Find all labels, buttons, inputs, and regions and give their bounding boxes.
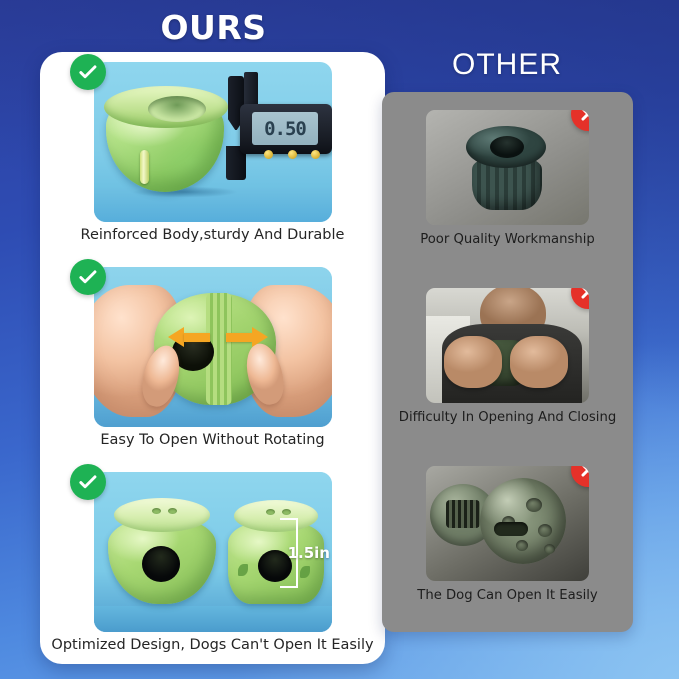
other-panel: Poor Quality Workmanship Difficulty In O… bbox=[382, 92, 633, 632]
photo-two-green-toys-size-comparison: 1.5in bbox=[94, 472, 332, 632]
other-caption-0: Poor Quality Workmanship bbox=[382, 232, 633, 247]
check-circle-icon bbox=[70, 54, 106, 90]
ours-caption-2: Optimized Design, Dogs Can't Open It Eas… bbox=[40, 637, 385, 653]
other-caption-1: Difficulty In Opening And Closing bbox=[382, 410, 633, 425]
caliper-button-1 bbox=[264, 150, 273, 159]
check-circle-icon bbox=[70, 464, 106, 500]
digital-caliper: 0.50 bbox=[212, 72, 332, 192]
toy-opening bbox=[142, 546, 180, 582]
right-hand bbox=[510, 336, 568, 388]
toy-knob bbox=[266, 509, 275, 515]
other-heading: OTHER bbox=[382, 48, 632, 82]
toy-lid bbox=[114, 498, 209, 532]
caliper-button-3 bbox=[311, 150, 320, 159]
table-surface bbox=[94, 606, 332, 632]
caliper-reading-value: 0.50 bbox=[264, 118, 306, 140]
photo-sage-green-ball-opened-apart bbox=[426, 466, 589, 581]
toy-knob bbox=[282, 509, 291, 515]
left-hand bbox=[444, 336, 502, 388]
photo-hands-pulling-toy-apart bbox=[94, 267, 332, 427]
toy-pin bbox=[140, 150, 149, 184]
bracket-bottom bbox=[280, 586, 298, 588]
toy-ball bbox=[480, 478, 566, 564]
dimension-value: 1.5in bbox=[288, 544, 330, 562]
dimension-annotation: 1.5in bbox=[266, 518, 328, 588]
lid-grate bbox=[446, 500, 480, 528]
ball-dimple bbox=[544, 544, 555, 554]
toy-opening bbox=[494, 522, 528, 536]
ball-dimple bbox=[516, 540, 528, 551]
toy-left bbox=[108, 498, 216, 604]
photo-person-struggling-to-open-toy bbox=[426, 288, 589, 403]
arrow-left-icon bbox=[168, 327, 210, 347]
arrow-right-icon bbox=[226, 327, 268, 347]
toy-knob bbox=[152, 508, 161, 514]
toy-opening bbox=[490, 136, 524, 158]
ball-dimple bbox=[526, 498, 542, 512]
toy-opening bbox=[148, 96, 206, 122]
ours-card: 0.50 Reinforced Body,sturdy And Durable bbox=[40, 52, 385, 664]
other-caption-2: The Dog Can Open It Easily bbox=[382, 588, 633, 603]
ours-heading: OURS bbox=[40, 8, 387, 47]
check-circle-icon bbox=[70, 259, 106, 295]
toy-knob bbox=[168, 508, 177, 514]
caliper-lcd-display: 0.50 bbox=[252, 112, 318, 145]
ball-dimple bbox=[538, 524, 552, 537]
toy bbox=[460, 126, 552, 212]
photo-rough-dark-teal-toy bbox=[426, 110, 589, 225]
ours-caption-1: Easy To Open Without Rotating bbox=[40, 432, 385, 448]
ours-caption-0: Reinforced Body,sturdy And Durable bbox=[40, 227, 385, 243]
photo-green-toy-with-digital-caliper: 0.50 bbox=[94, 62, 332, 222]
caliper-buttons bbox=[264, 150, 320, 162]
caliper-button-2 bbox=[288, 150, 297, 159]
